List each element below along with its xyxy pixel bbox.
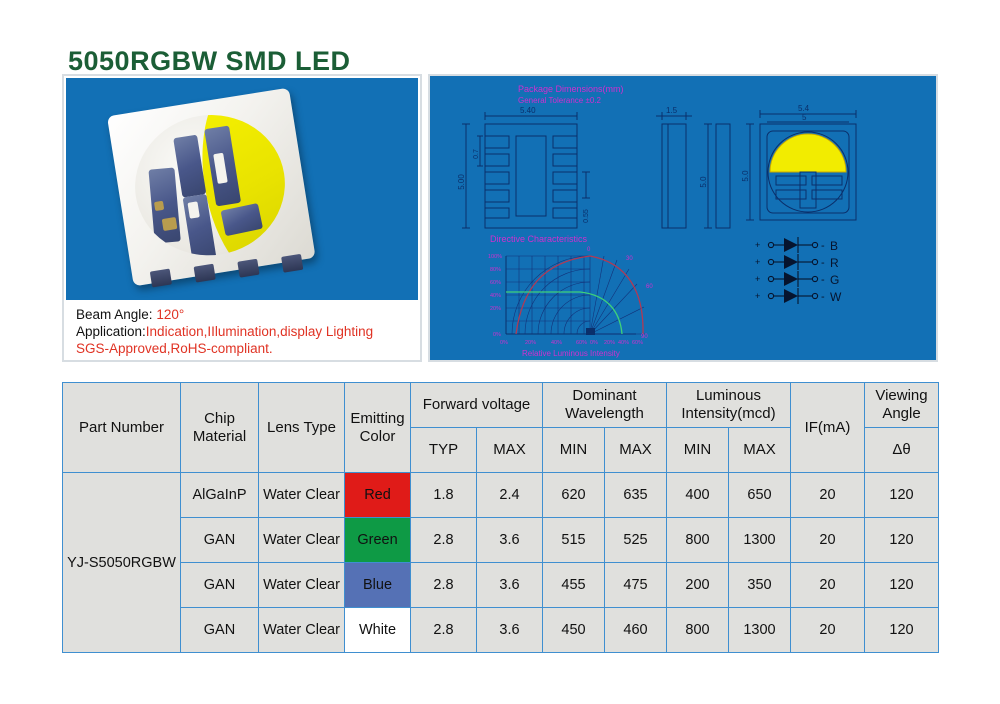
cell-viewing-angle: 120 (865, 608, 939, 653)
svg-text:30: 30 (626, 256, 633, 262)
pin-legend-row-r: + - R (755, 254, 839, 270)
cell-lens-type: Water Clear (259, 518, 345, 563)
cell-lens-type: Water Clear (259, 473, 345, 518)
cell-lens-type: Water Clear (259, 608, 345, 653)
svg-text:-: - (821, 257, 825, 269)
svg-text:90: 90 (641, 334, 648, 340)
cell-iv-max: 650 (729, 473, 791, 518)
beam-angle-value: 120° (156, 307, 184, 322)
cell-wl-min: 455 (543, 563, 605, 608)
header-dominant-wavelength: Dominant Wavelength (543, 383, 667, 428)
cell-iv-max: 350 (729, 563, 791, 608)
pin-legend: + - B + (755, 237, 842, 304)
svg-text:40%: 40% (551, 340, 562, 346)
polar-xlabel: Relative Luminous Intensity (522, 349, 620, 358)
cell-vf-typ: 1.8 (411, 473, 477, 518)
cell-iv-min: 800 (667, 608, 729, 653)
cell-wl-max: 525 (605, 518, 667, 563)
application-line: Application:Indication,IIlumination,disp… (76, 323, 418, 340)
cell-if-ma: 20 (791, 563, 865, 608)
cell-vf-max: 3.6 (477, 518, 543, 563)
table-row: GAN Water Clear White 2.8 3.6 450 460 80… (63, 608, 939, 653)
table-row: GAN Water Clear Green 2.8 3.6 515 525 80… (63, 518, 939, 563)
cell-chip-material: GAN (181, 518, 259, 563)
header-vf-max: MAX (477, 428, 543, 473)
compliance-line: SGS-Approved,RoHS-compliant. (76, 340, 418, 357)
dim-side-height: 5.0 (699, 176, 708, 188)
dim-topview-height: 5.0 (741, 170, 750, 182)
svg-text:20%: 20% (490, 306, 501, 312)
led-cavity (125, 104, 295, 266)
header-vf-typ: TYP (411, 428, 477, 473)
pin-legend-row-g: + - G (755, 271, 839, 287)
application-label: Application: (76, 324, 146, 339)
led-package-image (107, 86, 329, 296)
cell-wl-min: 620 (543, 473, 605, 518)
svg-text:+: + (755, 291, 760, 301)
cell-viewing-angle: 120 (865, 518, 939, 563)
cell-vf-max: 3.6 (477, 608, 543, 653)
dim-topview-outer: 5.4 (798, 104, 810, 113)
svg-text:100%: 100% (488, 254, 502, 260)
dim-top-width: 5.40 (520, 106, 536, 115)
cell-emitting-color: Blue (345, 563, 411, 608)
svg-text:R: R (830, 256, 839, 270)
header-luminous-intensity: Luminous Intensity(mcd) (667, 383, 791, 428)
svg-text:+: + (755, 240, 760, 250)
svg-text:0%: 0% (500, 340, 508, 346)
svg-text:80%: 80% (490, 267, 501, 273)
cell-emitting-color: Red (345, 473, 411, 518)
cell-wl-min: 450 (543, 608, 605, 653)
polar-curve-green (506, 292, 622, 334)
product-photo-panel: Beam Angle: 120° Application:Indication,… (62, 74, 422, 362)
cell-iv-max: 1300 (729, 608, 791, 653)
cell-iv-min: 800 (667, 518, 729, 563)
header-forward-voltage: Forward voltage (411, 383, 543, 428)
dim-pad-pitch: 0.7 (473, 149, 480, 159)
polar-x-labels: 0% 20% 40% 60% 0% 20% 40% 60% (500, 340, 643, 346)
svg-text:20%: 20% (604, 340, 615, 346)
header-iv-max: MAX (729, 428, 791, 473)
svg-text:0: 0 (587, 247, 591, 253)
cell-emitting-color: Green (345, 518, 411, 563)
table-header-row-1: Part Number Chip Material Lens Type Emit… (63, 383, 939, 428)
svg-text:-: - (821, 240, 825, 252)
dim-side-thickness: 1.5 (666, 106, 678, 115)
dim-pad-gap: 0.55 (583, 209, 590, 223)
datasheet-page: 5050RGBW SMD LED (0, 0, 1000, 704)
header-wl-max: MAX (605, 428, 667, 473)
cell-iv-min: 400 (667, 473, 729, 518)
header-part-number: Part Number (63, 383, 181, 473)
dim-left-height: 5.00 (457, 174, 466, 190)
general-tolerance-label: General Tolerance ±0.2 (518, 96, 602, 105)
svg-text:60%: 60% (632, 340, 643, 346)
beam-angle-label: Beam Angle: (76, 307, 153, 322)
header-lens-type: Lens Type (259, 383, 345, 473)
header-chip-material: Chip Material (181, 383, 259, 473)
cell-if-ma: 20 (791, 473, 865, 518)
cell-wl-max: 475 (605, 563, 667, 608)
package-drawing-svg: Package Dimensions(mm) General Tolerance… (430, 76, 936, 360)
cell-if-ma: 20 (791, 518, 865, 563)
cell-if-ma: 20 (791, 608, 865, 653)
cell-iv-max: 1300 (729, 518, 791, 563)
cell-chip-material: AlGaInP (181, 473, 259, 518)
cell-lens-type: Water Clear (259, 563, 345, 608)
cell-vf-typ: 2.8 (411, 563, 477, 608)
svg-text:-: - (821, 291, 825, 303)
led-body (107, 88, 316, 287)
drawing-panel: Package Dimensions(mm) General Tolerance… (428, 74, 938, 362)
cell-vf-typ: 2.8 (411, 518, 477, 563)
beam-angle-line: Beam Angle: 120° (76, 306, 418, 323)
svg-text:0%: 0% (590, 340, 598, 346)
cell-iv-min: 200 (667, 563, 729, 608)
svg-text:20%: 20% (525, 340, 536, 346)
pin-legend-row-b: + - B (755, 237, 838, 253)
header-if-ma: IF(mA) (791, 383, 865, 473)
svg-text:B: B (830, 239, 838, 253)
header-iv-min: MIN (667, 428, 729, 473)
svg-text:60%: 60% (576, 340, 587, 346)
page-title: 5050RGBW SMD LED (68, 46, 351, 77)
cell-wl-max: 460 (605, 608, 667, 653)
header-viewing-symbol: Δθ (865, 428, 939, 473)
header-viewing-angle: Viewing Angle (865, 383, 939, 428)
product-caption: Beam Angle: 120° Application:Indication,… (66, 300, 418, 360)
dim-topview-inner: 5 (802, 113, 807, 122)
polar-radial-labels: 100% 80% 60% 40% 20% 0% (488, 254, 502, 338)
header-emitting-color: Emitting Color (345, 383, 411, 473)
svg-text:-: - (821, 274, 825, 286)
cell-vf-max: 3.6 (477, 563, 543, 608)
svg-text:60%: 60% (490, 280, 501, 286)
cell-viewing-angle: 120 (865, 473, 939, 518)
header-wl-min: MIN (543, 428, 605, 473)
svg-text:+: + (755, 274, 760, 284)
cell-wl-min: 515 (543, 518, 605, 563)
cell-vf-max: 2.4 (477, 473, 543, 518)
table-row: YJ-S5050RGBW AlGaInP Water Clear Red 1.8… (63, 473, 939, 518)
cell-chip-material: GAN (181, 608, 259, 653)
cell-part-number: YJ-S5050RGBW (63, 473, 181, 653)
product-photo (66, 78, 418, 300)
cell-wl-max: 635 (605, 473, 667, 518)
svg-text:+: + (755, 257, 760, 267)
pin-legend-row-w: + - W (755, 288, 842, 304)
cell-emitting-color: White (345, 608, 411, 653)
application-value: Indication,IIlumination,display Lighting (146, 324, 373, 339)
package-dimensions-title: Package Dimensions(mm) (518, 84, 624, 94)
svg-text:40%: 40% (618, 340, 629, 346)
svg-text:W: W (830, 290, 842, 304)
svg-text:0%: 0% (493, 332, 501, 338)
directive-characteristics-title: Directive Characteristics (490, 234, 588, 244)
svg-text:40%: 40% (490, 293, 501, 299)
svg-text:G: G (830, 273, 839, 287)
cell-viewing-angle: 120 (865, 563, 939, 608)
table-row: GAN Water Clear Blue 2.8 3.6 455 475 200… (63, 563, 939, 608)
svg-text:60: 60 (646, 284, 653, 290)
cell-vf-typ: 2.8 (411, 608, 477, 653)
cell-chip-material: GAN (181, 563, 259, 608)
specification-table: Part Number Chip Material Lens Type Emit… (62, 382, 939, 653)
